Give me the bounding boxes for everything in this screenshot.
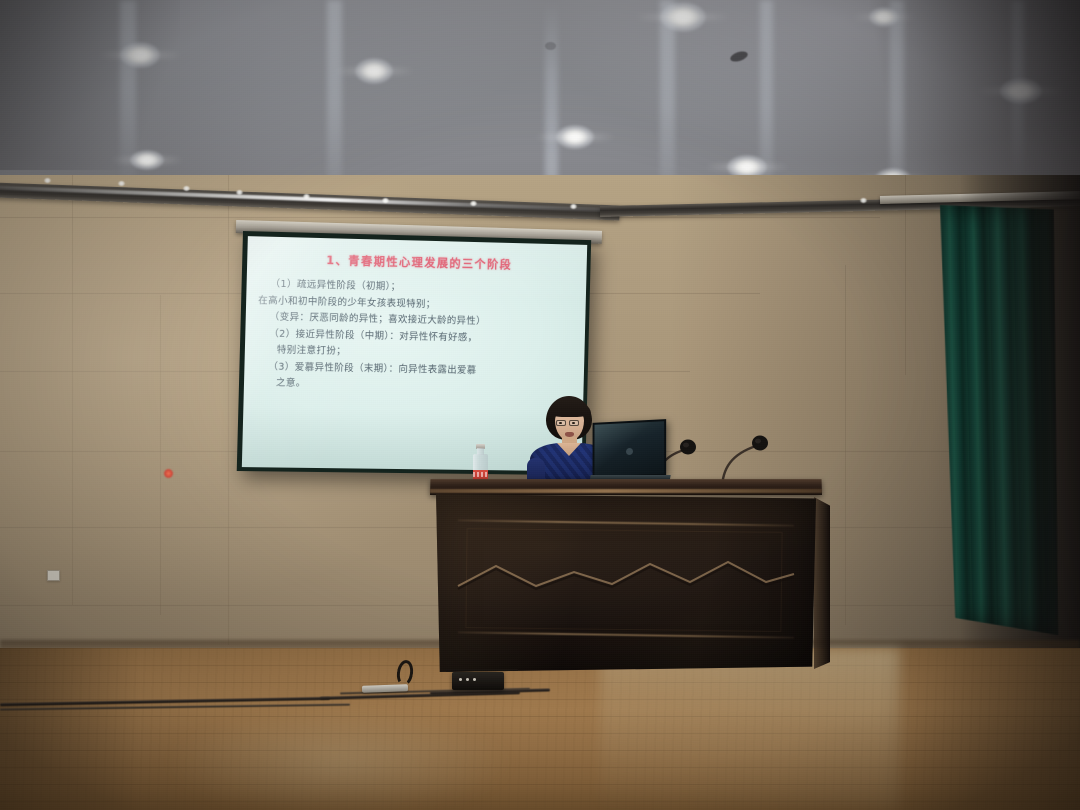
podium-chevron-carving bbox=[454, 556, 798, 596]
wall-downlight bbox=[236, 190, 243, 195]
ceiling-spotlight bbox=[355, 58, 393, 84]
podium-side-panel bbox=[814, 497, 830, 669]
ceiling-shadow-left bbox=[0, 0, 180, 170]
slide-content: 1、青春期性心理发展的三个阶段 （1）疏远异性阶段（初期）； 在高小和初中阶段的… bbox=[244, 236, 587, 397]
wall-downlight bbox=[570, 204, 577, 209]
wall-downlight bbox=[382, 198, 389, 203]
ceiling-spotlight bbox=[556, 125, 594, 149]
red-indicator-light bbox=[164, 469, 173, 478]
wall-outlet-icon bbox=[47, 570, 60, 581]
wall-downlight bbox=[44, 178, 51, 183]
laptop-screen bbox=[593, 419, 667, 478]
wall-downlight bbox=[118, 181, 125, 186]
laptop bbox=[592, 421, 668, 485]
floor-shadow-left bbox=[0, 648, 140, 810]
wall-downlight bbox=[303, 194, 310, 199]
floor-reflection bbox=[170, 708, 510, 810]
right-wall-shadow bbox=[960, 175, 1080, 695]
podium bbox=[430, 479, 822, 683]
slide-title: 1、青春期性心理发展的三个阶段 bbox=[259, 250, 577, 274]
ceiling-spotlight bbox=[660, 2, 706, 32]
podium-top-edge bbox=[430, 489, 822, 493]
wall-downlight bbox=[470, 201, 477, 206]
wall-downlight bbox=[183, 186, 190, 191]
photo-scene: 1、青春期性心理发展的三个阶段 （1）疏远异性阶段（初期）； 在高小和初中阶段的… bbox=[0, 0, 1080, 810]
ceiling-vent-icon bbox=[545, 42, 556, 50]
podium-front-panel bbox=[436, 494, 816, 672]
wall-downlight bbox=[860, 198, 867, 203]
floor-shadow-right bbox=[880, 648, 1080, 810]
